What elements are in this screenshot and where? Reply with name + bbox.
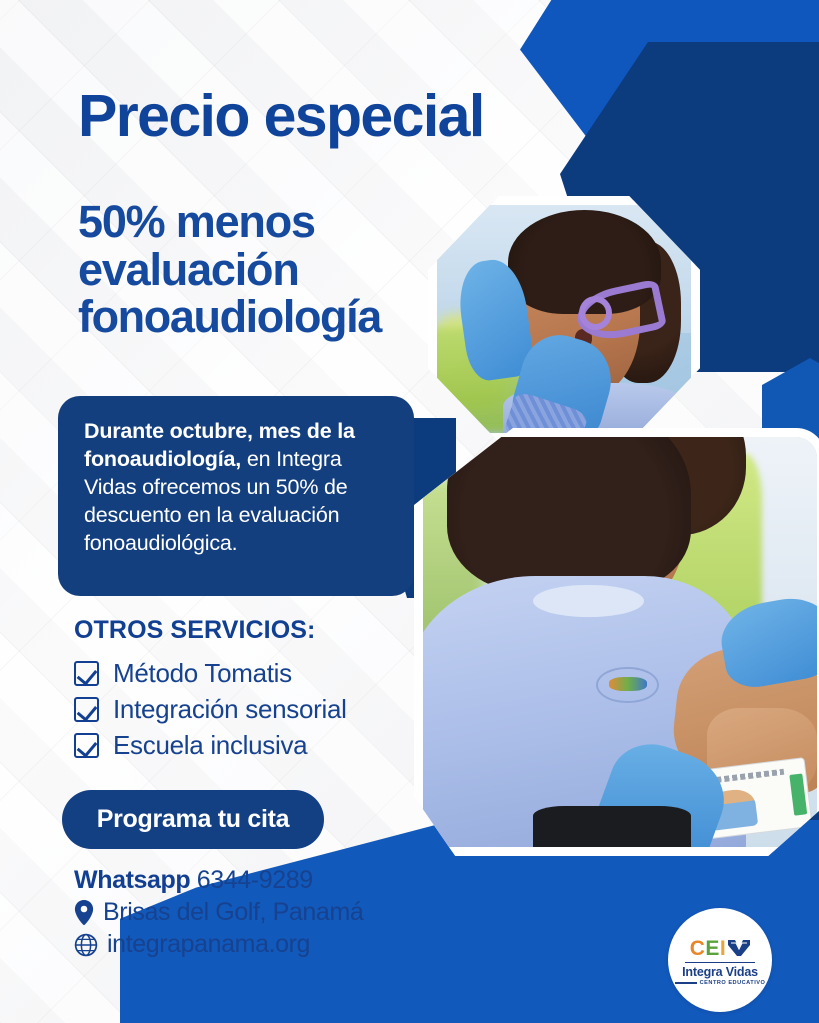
location-row[interactable]: Brisas del Golf, Panamá [74,898,454,927]
logo-subtitle-wrap: CENTRO EDUCATIVO [675,980,766,986]
brand-logo: C E I Integra Vidas CENTRO EDUCATIVO [668,908,772,1012]
logo-cei-lettermark: C E I [690,938,751,959]
photo-bottom-image [423,437,817,847]
service-label: Método Tomatis [113,658,292,689]
photo-bottom-shirt-collar [533,585,643,618]
promo-description-box: Durante octubre, mes de la fonoaudiologí… [58,396,414,596]
subheadline-line-1: 50% menos [78,198,381,246]
whatsapp-label: Whatsapp [74,866,190,894]
whatsapp-line: Whatsapp 6344-9289 [74,866,313,895]
logo-letter-i: I [720,938,726,959]
globe-icon [74,933,98,957]
logo-letter-e: E [705,938,720,959]
subheadline: 50% menos evaluación fonoaudiología [78,198,381,341]
photo-smiling-child-session [414,428,819,856]
wing-icon [728,939,750,957]
logo-divider [685,962,755,964]
website-text: integrapanama.org [107,930,310,959]
list-item[interactable]: Integración sensorial [74,694,424,725]
logo-brand-name: Integra Vidas [682,965,758,979]
schedule-appointment-button[interactable]: Programa tu cita [62,790,324,849]
checkbox-checked-icon [74,733,99,758]
subheadline-line-2: evaluación [78,246,381,294]
services-list: Método Tomatis Integración sensorial Esc… [74,658,424,766]
logo-dash [675,982,697,984]
logo-letter-c: C [690,938,706,959]
logo-subtitle: CENTRO EDUCATIVO [700,980,766,986]
checkbox-checked-icon [74,661,99,686]
service-label: Escuela inclusiva [113,730,307,761]
photo-bottom-card-green-marker [790,773,808,815]
photo-oral-motor-therapy [428,196,700,442]
list-item[interactable]: Escuela inclusiva [74,730,424,761]
photo-bottom-table-edge [533,806,691,855]
promo-description-text: Durante octubre, mes de la fonoaudiologí… [84,418,390,558]
whatsapp-number: 6344-9289 [197,866,313,894]
location-text: Brisas del Golf, Panamá [103,898,363,927]
contact-info: Whatsapp 6344-9289 Brisas del Golf, Pana… [74,866,454,962]
list-item[interactable]: Método Tomatis [74,658,424,689]
photo-top-image [437,205,691,433]
page-title: Precio especial [78,86,484,146]
whatsapp-row[interactable]: Whatsapp 6344-9289 [74,866,454,895]
promotional-flyer: Precio especial 50% menos evaluación fon… [0,0,819,1023]
website-row[interactable]: integrapanama.org [74,930,454,959]
photo-bottom-child-hair [447,428,691,593]
checkbox-checked-icon [74,697,99,722]
subheadline-line-3: fonoaudiología [78,293,381,341]
services-heading: OTROS SERVICIOS: [74,616,315,645]
service-label: Integración sensorial [113,694,347,725]
location-pin-icon [74,900,94,926]
